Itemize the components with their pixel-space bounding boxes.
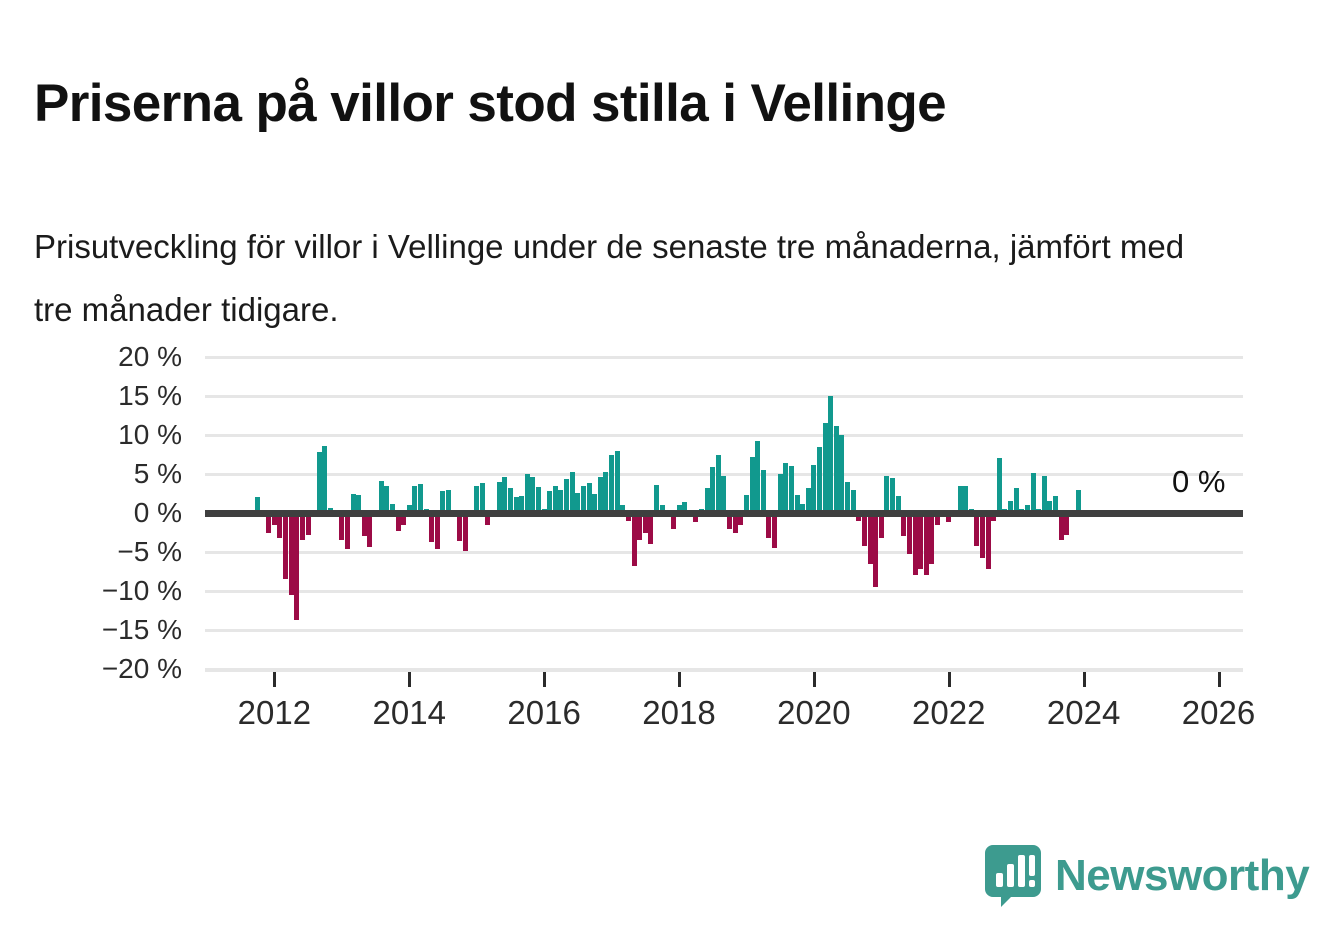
chart-bar	[755, 441, 760, 513]
chart-bar	[873, 513, 878, 587]
y-axis-tick-label: 0 %	[52, 499, 182, 527]
chart-bar	[884, 476, 889, 513]
chart-bar	[929, 513, 934, 564]
chart-bar	[587, 483, 592, 513]
x-axis-tick-label: 2014	[339, 694, 479, 732]
chart-bar	[783, 463, 788, 513]
chart-bar	[429, 513, 434, 542]
chart-bar	[811, 465, 816, 513]
chart-bar	[564, 479, 569, 513]
chart-bar	[474, 486, 479, 513]
chart-bar	[367, 513, 372, 547]
x-axis-tick	[408, 672, 411, 687]
chart-bar	[789, 466, 794, 513]
chart-bar	[710, 467, 715, 513]
bar-chart-bubble-icon	[985, 845, 1041, 907]
gridline	[205, 434, 1243, 437]
chart-bar	[502, 477, 507, 513]
chart-bar	[570, 472, 575, 513]
chart-bar	[289, 513, 294, 595]
chart-bar	[963, 486, 968, 513]
chart-bar	[986, 513, 991, 569]
chart-bar	[598, 477, 603, 513]
chart-bar	[721, 476, 726, 513]
chart-bar	[581, 486, 586, 513]
chart-bar	[958, 486, 963, 513]
chart-bar	[435, 513, 440, 549]
chart-bar	[283, 513, 288, 579]
x-axis-baseline	[205, 669, 1243, 672]
x-axis-tick	[1083, 672, 1086, 687]
y-axis-tick-label: −15 %	[52, 616, 182, 644]
chart-bar	[1031, 473, 1036, 513]
chart-bar	[530, 477, 535, 513]
chart-bar	[603, 472, 608, 513]
chart-bar	[1059, 513, 1064, 540]
chart-bar	[637, 513, 642, 540]
x-axis-tick	[273, 672, 276, 687]
y-axis-tick-label: 15 %	[52, 382, 182, 410]
y-axis-tick-label: −20 %	[52, 655, 182, 683]
chart-bar	[317, 452, 322, 513]
x-axis-tick-label: 2016	[474, 694, 614, 732]
chart-bar	[716, 455, 721, 514]
chart-bar	[412, 486, 417, 513]
x-axis-tick-label: 2022	[879, 694, 1019, 732]
chart-bar	[817, 447, 822, 513]
x-axis-tick	[948, 672, 951, 687]
chart-bar	[339, 513, 344, 540]
x-axis-tick	[678, 672, 681, 687]
chart-bar	[997, 458, 1002, 513]
x-axis-tick	[543, 672, 546, 687]
chart-bar	[615, 451, 620, 513]
gridline	[205, 590, 1243, 593]
last-value-annotation: 0 %	[1172, 464, 1225, 500]
gridline	[205, 629, 1243, 632]
y-axis-tick-label: 10 %	[52, 421, 182, 449]
plot-area	[205, 357, 1243, 669]
chart-bar	[480, 483, 485, 513]
chart-bar	[345, 513, 350, 549]
chart-bar	[463, 513, 468, 551]
chart-bar	[772, 513, 777, 548]
chart-bar	[553, 486, 558, 513]
y-axis-tick-label: 5 %	[52, 460, 182, 488]
chart-bar	[525, 474, 530, 513]
chart-bar	[828, 396, 833, 513]
chart-page: Priserna på villor stod stilla i Velling…	[0, 0, 1322, 939]
chart-bar	[868, 513, 873, 564]
chart-bar	[300, 513, 305, 540]
chart-bar	[418, 484, 423, 513]
chart-bar	[384, 486, 389, 513]
x-axis-tick-label: 2024	[1014, 694, 1154, 732]
chart-bar	[918, 513, 923, 569]
y-axis-tick-label: −10 %	[52, 577, 182, 605]
x-axis-tick	[1218, 672, 1221, 687]
chart-bar	[648, 513, 653, 544]
chart-bar	[1042, 476, 1047, 513]
y-axis-tick-label: −5 %	[52, 538, 182, 566]
chart-bar	[497, 482, 502, 513]
x-axis-tick-label: 2018	[609, 694, 749, 732]
x-axis-tick-label: 2020	[744, 694, 884, 732]
x-axis-tick-label: 2012	[204, 694, 344, 732]
chart-bar	[750, 457, 755, 513]
chart-bar	[823, 423, 828, 513]
zero-line	[205, 510, 1243, 517]
chart-bar	[980, 513, 985, 558]
chart-bar	[654, 485, 659, 513]
bar-chart: 20 %15 %10 %5 %0 %−5 %−10 %−15 %−20 %201…	[0, 0, 1322, 939]
chart-bar	[913, 513, 918, 575]
chart-bar	[761, 470, 766, 513]
gridline	[205, 356, 1243, 359]
chart-bar	[609, 455, 614, 513]
chart-bar	[294, 513, 299, 620]
chart-bar	[834, 426, 839, 513]
chart-bar	[379, 481, 384, 513]
chart-bar	[632, 513, 637, 566]
x-axis-tick-label: 2026	[1149, 694, 1289, 732]
brand-name: Newsworthy	[1055, 854, 1309, 898]
chart-bar	[907, 513, 912, 554]
chart-bar	[457, 513, 462, 541]
chart-bar	[845, 482, 850, 513]
gridline	[205, 551, 1243, 554]
chart-bar	[839, 435, 844, 513]
newsworthy-logo: Newsworthy	[985, 845, 1309, 907]
chart-bar	[778, 474, 783, 513]
gridline	[205, 395, 1243, 398]
chart-bar	[890, 478, 895, 513]
chart-bar	[862, 513, 867, 546]
chart-bar	[924, 513, 929, 575]
chart-bar	[322, 446, 327, 513]
y-axis-tick-label: 20 %	[52, 343, 182, 371]
chart-bar	[974, 513, 979, 546]
x-axis-tick	[813, 672, 816, 687]
